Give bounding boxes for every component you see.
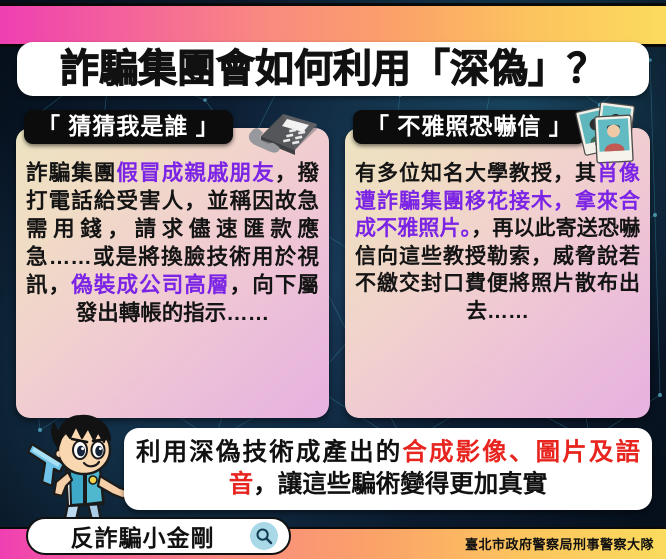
desk-phone-icon [243,106,321,158]
body-run-4-highlight: 偽裝成公司高層 [71,273,229,297]
photo-stack-icon [572,100,648,166]
summary-run-2: ，讓這些騙術變得更加真實 [253,471,547,498]
card-heading-label: 「 不雅照恐嚇信 」 [366,114,573,138]
body-run-0: 詐騙集團 [26,161,117,185]
summary-text: 利用深偽技術成產出的合成影像、圖片及語音，讓這些騙術變得更加真實 [136,437,640,502]
summary-banner: 利用深偽技術成產出的合成影像、圖片及語音，讓這些騙術變得更加真實 [124,428,652,510]
poster-canvas: 詐騙集團會如何利用「深偽」？ 「 猜猜我是誰 」 [0,0,666,559]
card-heading-label: 「 猜猜我是誰 」 [37,114,220,138]
agency-credit: 臺北市政府警察局刑事警察大隊 [465,534,654,553]
page-title: 詐騙集團會如何利用「深偽」？ [60,50,606,89]
scam-card-guess-who: 「 猜猜我是誰 」 詐騙集團假冒成親戚朋 [16,128,329,418]
search-pill-label: 反詐騙小金剛 [71,519,215,553]
card-body-guess-who: 詐騙集團假冒成親戚朋友，撥打電話給受害人，並稱因故急需用錢，請求儘速匯款應急……… [16,158,329,328]
scam-card-blackmail-letter: 「 不雅照恐嚇信 」 [345,128,650,418]
top-gradient-bar [0,3,666,47]
card-heading-guess-who: 「 猜猜我是誰 」 [24,110,233,144]
body-run-0: 有多位知名大學教授，其 [355,162,597,185]
card-body-blackmail: 有多位知名大學教授，其肖像遭詐騙集團移花接木，拿來合成不雅照片。，再以此寄送恐嚇… [345,158,650,325]
magnifier-icon[interactable] [250,522,278,550]
body-run-1-highlight: 假冒成親戚朋友 [117,161,275,185]
page-title-box: 詐騙集團會如何利用「深偽」？ [17,42,649,96]
card-heading-blackmail: 「 不雅照恐嚇信 」 [353,110,586,144]
search-pill[interactable]: 反詐騙小金剛 [26,517,291,555]
summary-run-0: 利用深偽技術成產出的 [136,439,402,466]
